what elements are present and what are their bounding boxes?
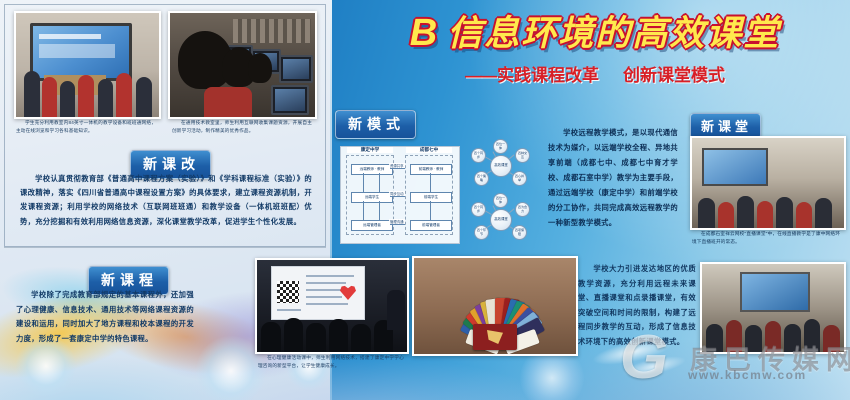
subtitle-dash: —— (465, 66, 495, 85)
diagram-bubble-center: 高效课堂 (490, 209, 512, 231)
diagram-panel: 康定中学 远端教师 · 教师 远端学生 远端管理者 成都七中 前端教师 · 教师… (340, 146, 460, 244)
caption-text: 学生充分利用教室内84英寸一体机的教学设备和班班通网络，主动在线浏览和学习各科基… (16, 120, 156, 133)
paragraph-xin-mo-shi: 学校远程教学模式，是以现代通信技术为媒介，以远端学校全程、异地共享前端（成都七中… (548, 126, 678, 231)
photo-psychology-class (255, 258, 409, 354)
section-marker: B (410, 12, 439, 54)
photo-remote-sync-class (700, 262, 846, 354)
paragraph-text: 学校大力引进发达地区的优质教学资源，充分利用远程未来课堂、直播课堂和点录播课堂，… (578, 264, 696, 346)
paragraph-text: 学校认真贯彻教育部《普通高中课程方案（实验）》和《学科课程标准（实验）》的课改精… (20, 174, 312, 226)
diagram-bubble: 四位一体 (493, 193, 508, 208)
page-title-text: 信息环境的高效课堂 (447, 14, 780, 53)
photo-computer-lab (168, 11, 317, 119)
diagram-bubble-center: 高效课堂 (490, 155, 512, 177)
diagram-bubble: 四个环节 (474, 225, 489, 240)
diagram-column-title: 康定中学 (347, 147, 393, 153)
diagram-column-chengdu: 成都七中 前端教师 · 教师 前端学生 前端管理者 (405, 155, 453, 235)
paragraph-xin-ke-cheng: 学校除了完成教育部规定的基本课程外，还加强了心理健康、信息技术、通用技术等网络课… (16, 288, 194, 346)
diagram-bubble: 四个策略 (474, 171, 489, 186)
horizontal-divider (4, 247, 326, 248)
caption-psychology-class: 在心理健康活动课中，师生利用网络技术，搭建了康定中学学心理咨询的新型平台，让学生… (258, 354, 404, 371)
diagram-node: 前端学生 (410, 192, 452, 203)
caption-text: 在心理健康活动课中，师生利用网络技术，搭建了康定中学学心理咨询的新型平台，让学生… (258, 355, 404, 368)
subtitle-part2: 创新课堂模式 (623, 66, 725, 85)
page-subtitle: ——实践课程改革创新课堂模式 (345, 61, 845, 86)
subtitle-part1: 实践课程改革 (497, 66, 599, 85)
diagram-bubble: 四项保障 (512, 225, 527, 240)
poster-board: B信息环境的高效课堂 ——实践课程改革创新课堂模式 学生充分利用教室内84英寸一… (0, 0, 850, 400)
page-title: B信息环境的高效课堂 (345, 14, 845, 52)
paragraph-text: 学校除了完成教育部规定的基本课程外，还加强了心理健康、信息技术、通用技术等网络课… (16, 290, 194, 343)
photo-textbook-collection (412, 256, 578, 356)
photo-live-broadcast-class (690, 136, 846, 230)
diagram-link-label: 同步互动 (389, 191, 405, 196)
diagram-node: 前端管理者 (410, 220, 452, 231)
diagram-bubble: 四个同步 (471, 202, 486, 217)
diagram-node: 远端学生 (351, 192, 393, 203)
poster-header: B信息环境的高效课堂 ——实践课程改革创新课堂模式 (345, 14, 845, 86)
diagram-node: 前端教师 · 教师 (410, 164, 452, 175)
diagram-bubble: 四个同步 (471, 148, 486, 163)
diagram-node: 远端教师 · 教师 (351, 164, 393, 175)
caption-text: 在通用技术教室里，师生利用互联网收集课题资源，开展自主创新学习活动，制作精美的优… (172, 120, 312, 133)
photo-smartboard-classroom (14, 11, 161, 119)
teaching-model-diagram: 康定中学 远端教师 · 教师 远端学生 远端管理者 成都七中 前端教师 · 教师… (340, 140, 540, 248)
tab-xin-mo-shi[interactable]: 新模式 (335, 110, 416, 139)
caption-text: 在成都石室祥云网校"直播课堂"中，在线直播教学是了康中网络环境下直播班开的常态。 (692, 231, 840, 244)
caption-live-broadcast-class: 在成都石室祥云网校"直播课堂"中，在线直播教学是了康中网络环境下直播班开的常态。 (692, 230, 840, 247)
caption-computer-lab: 在通用技术教室里，师生利用互联网收集课题资源，开展自主创新学习活动，制作精美的优… (172, 119, 312, 136)
diagram-bubble: 四种交互 (515, 148, 530, 163)
diagram-link-label: 管理沟通 (389, 219, 405, 224)
caption-smartboard-classroom: 学生充分利用教室内84英寸一体机的教学设备和班班通网络，主动在线浏览和学习各科基… (16, 119, 156, 136)
diagram-cluster-top: 高效课堂 四位一体 四种交互 四个同步 四心并举 四个策略 (462, 140, 540, 192)
paragraph-xin-ke-tang: 学校大力引进发达地区的优质教学资源，充分利用远程未来课堂、直播课堂和点录播课堂，… (578, 262, 696, 350)
diagram-column-kangding: 康定中学 远端教师 · 教师 远端学生 远端管理者 (346, 155, 394, 235)
diagram-bubble: 四心并举 (512, 171, 527, 186)
paragraph-xin-ke-gai: 学校认真贯彻教育部《普通高中课程方案（实验）》和《学科课程标准（实验）》的课改精… (20, 172, 312, 229)
diagram-bubble: 四为合力 (515, 202, 530, 217)
diagram-node: 远端管理者 (351, 220, 393, 231)
diagram-column-title: 成都七中 (406, 147, 452, 153)
diagram-bubble: 四位一体 (493, 139, 508, 154)
paragraph-text: 学校远程教学模式，是以现代通信技术为媒介，以远端学校全程、异地共享前端（成都七中… (548, 128, 678, 227)
diagram-cluster-bottom: 高效课堂 四位一体 四为合力 四个同步 四项保障 四个环节 (462, 194, 540, 246)
diagram-link-label: 资源共享 (389, 163, 405, 168)
